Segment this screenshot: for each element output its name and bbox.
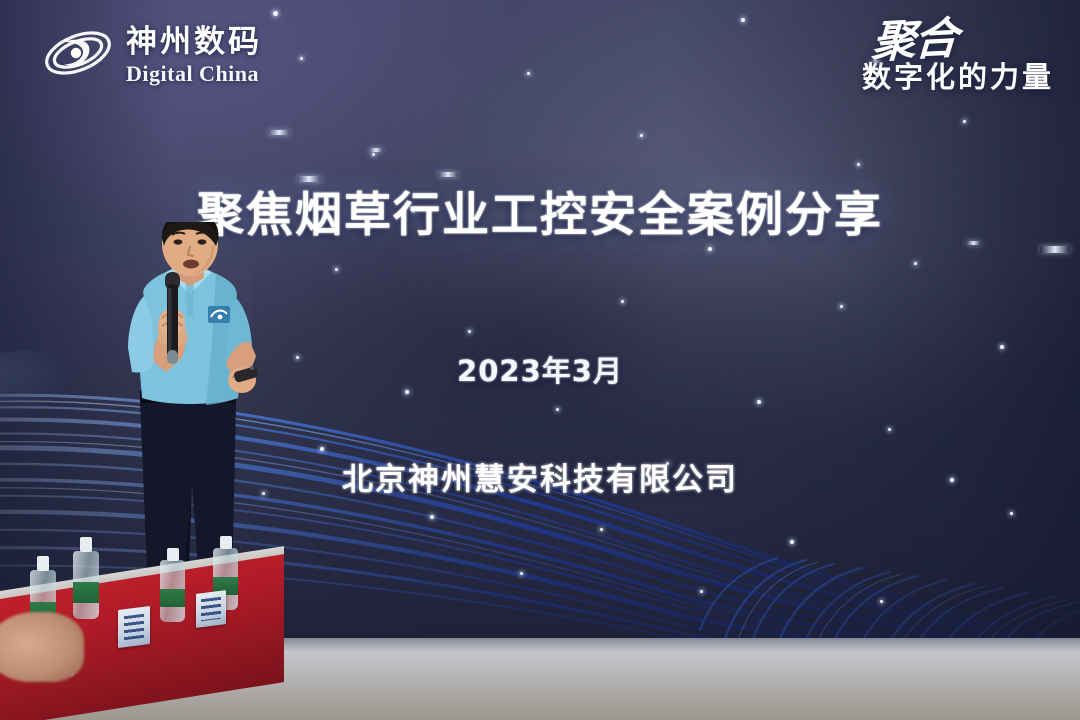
- seated-audience-member: [0, 612, 84, 682]
- microphone-icon: [165, 272, 180, 364]
- juhe-calligraphy: 聚合: [860, 18, 957, 65]
- water-bottle: [73, 551, 99, 619]
- conference-photo: 神州数码 Digital China 聚合 数字化的力量 聚焦烟草行业工控安全案…: [0, 0, 1080, 720]
- name-card: [196, 590, 226, 628]
- brand-name-cn: 神州数码: [126, 27, 262, 58]
- shirt-chest-logo-icon: [208, 306, 230, 323]
- digital-china-swirl-icon: [42, 22, 114, 89]
- name-card: [118, 606, 150, 648]
- water-bottle: [160, 560, 185, 622]
- digital-china-logo: 神州数码 Digital China: [42, 22, 262, 89]
- brand-name-en: Digital China: [126, 63, 262, 85]
- juhe-event-logo: 聚合 数字化的力量: [862, 18, 1054, 96]
